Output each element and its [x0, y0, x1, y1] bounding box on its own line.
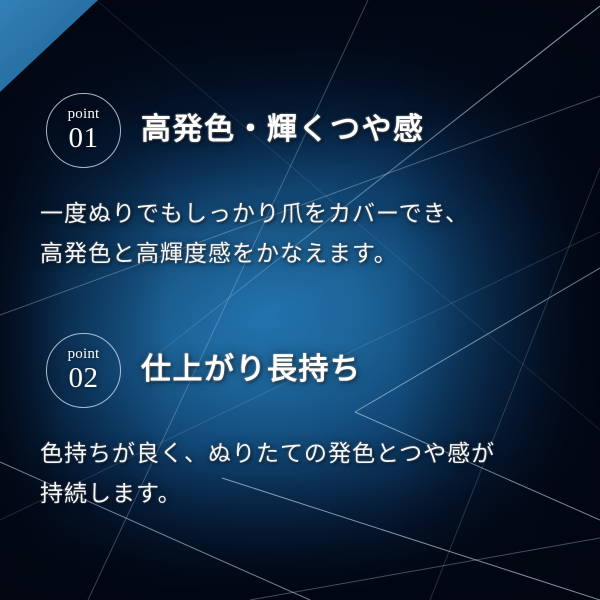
point-header-02: point 02 仕上がり長持ち [0, 326, 600, 414]
point-header-01: point 01 高発色・輝くつや感 [0, 86, 600, 174]
point-badge-word: point [68, 107, 100, 122]
banner-content: point 01 高発色・輝くつや感 一度ぬりでもしっかり爪をカバーでき、 高発… [0, 0, 600, 600]
point-badge-number: 01 [69, 124, 99, 153]
point-body-line: 高発色と高輝度感をかなえます。 [40, 234, 600, 274]
point-body-line: 持続します。 [40, 474, 600, 514]
point-title-02: 仕上がり長持ち [141, 355, 362, 385]
point-block-02: point 02 仕上がり長持ち 色持ちが良く、ぬりたての発色とつや感が 持続し… [0, 326, 600, 514]
point-body-02: 色持ちが良く、ぬりたての発色とつや感が 持続します。 [0, 414, 600, 514]
point-badge-word: point [68, 347, 100, 362]
point-badge-number: 02 [69, 364, 99, 393]
point-block-01: point 01 高発色・輝くつや感 一度ぬりでもしっかり爪をカバーでき、 高発… [0, 86, 600, 274]
point-title-01: 高発色・輝くつや感 [141, 115, 425, 145]
point-body-01: 一度ぬりでもしっかり爪をカバーでき、 高発色と高輝度感をかなえます。 [0, 174, 600, 274]
point-body-line: 色持ちが良く、ぬりたての発色とつや感が [40, 434, 600, 474]
point-body-line: 一度ぬりでもしっかり爪をカバーでき、 [40, 194, 600, 234]
promo-banner: point 01 高発色・輝くつや感 一度ぬりでもしっかり爪をカバーでき、 高発… [0, 0, 600, 600]
point-badge-01: point 01 [46, 93, 121, 168]
point-badge-02: point 02 [46, 333, 121, 408]
